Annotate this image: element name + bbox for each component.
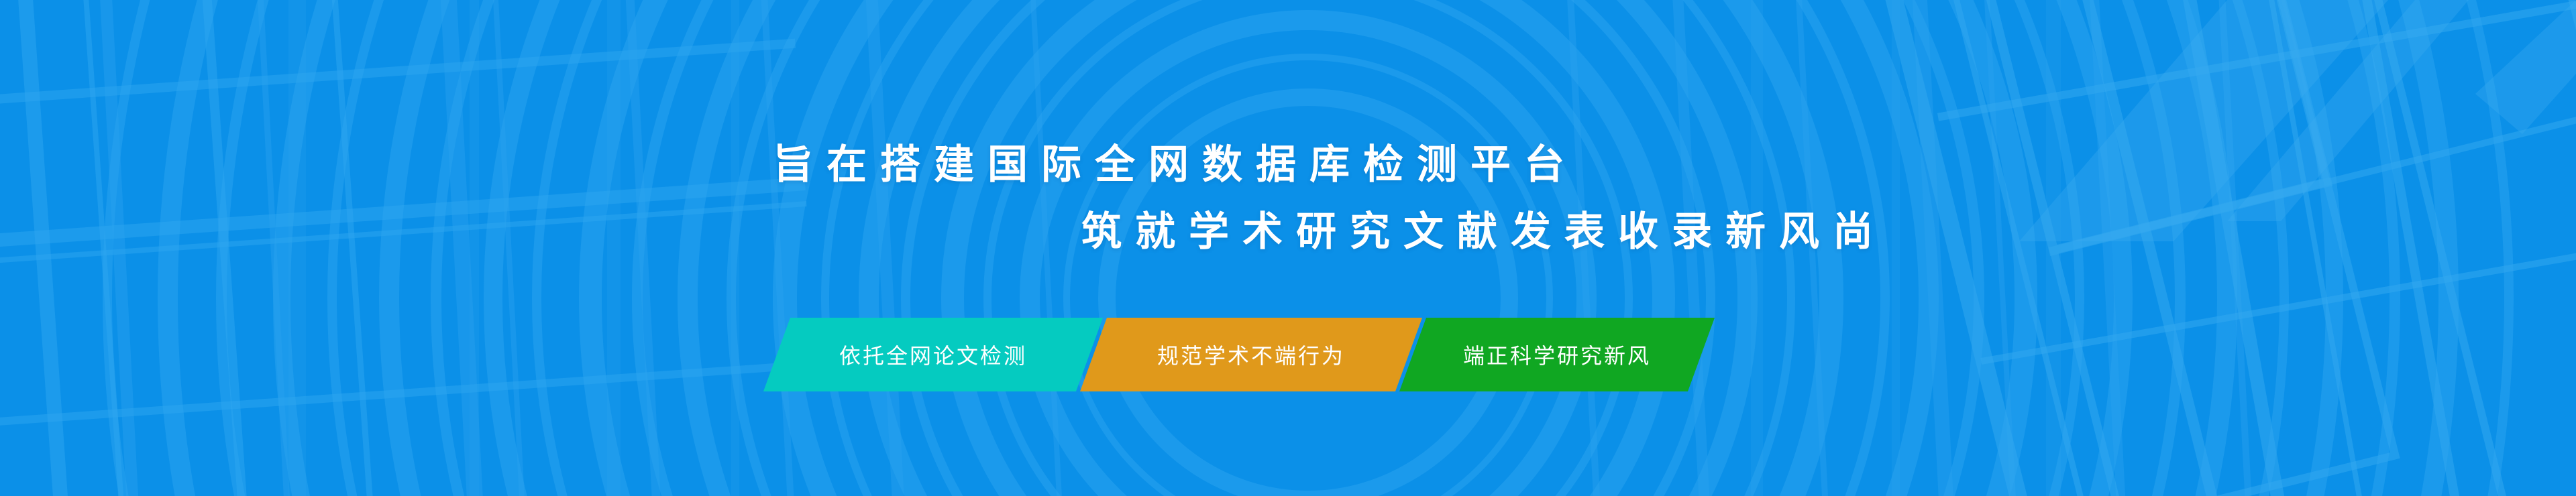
- feature-badge-research-ethics[interactable]: 端正科学研究新风: [1399, 318, 1715, 391]
- headline-block: 旨在搭建国际全网数据库检测平台 筑就学术研究文献发表收录新风尚: [0, 131, 2576, 265]
- feature-badge-label: 规范学术不端行为: [1153, 339, 1349, 370]
- headline-line-1: 旨在搭建国际全网数据库检测平台: [773, 131, 2576, 198]
- headline-line-2: 筑就学术研究文献发表收录新风尚: [1081, 198, 2576, 265]
- hero-banner: 旨在搭建国际全网数据库检测平台 筑就学术研究文献发表收录新风尚 依托全网论文检测…: [0, 0, 2576, 496]
- feature-badge-label: 依托全网论文检测: [835, 339, 1031, 370]
- feature-badge-label: 端正科学研究新风: [1459, 339, 1655, 370]
- feature-badge-paper-detection[interactable]: 依托全网论文检测: [763, 318, 1103, 391]
- feature-badge-academic-misconduct[interactable]: 规范学术不端行为: [1080, 318, 1422, 391]
- feature-badge-group: 依托全网论文检测 规范学术不端行为 端正科学研究新风: [777, 318, 1701, 391]
